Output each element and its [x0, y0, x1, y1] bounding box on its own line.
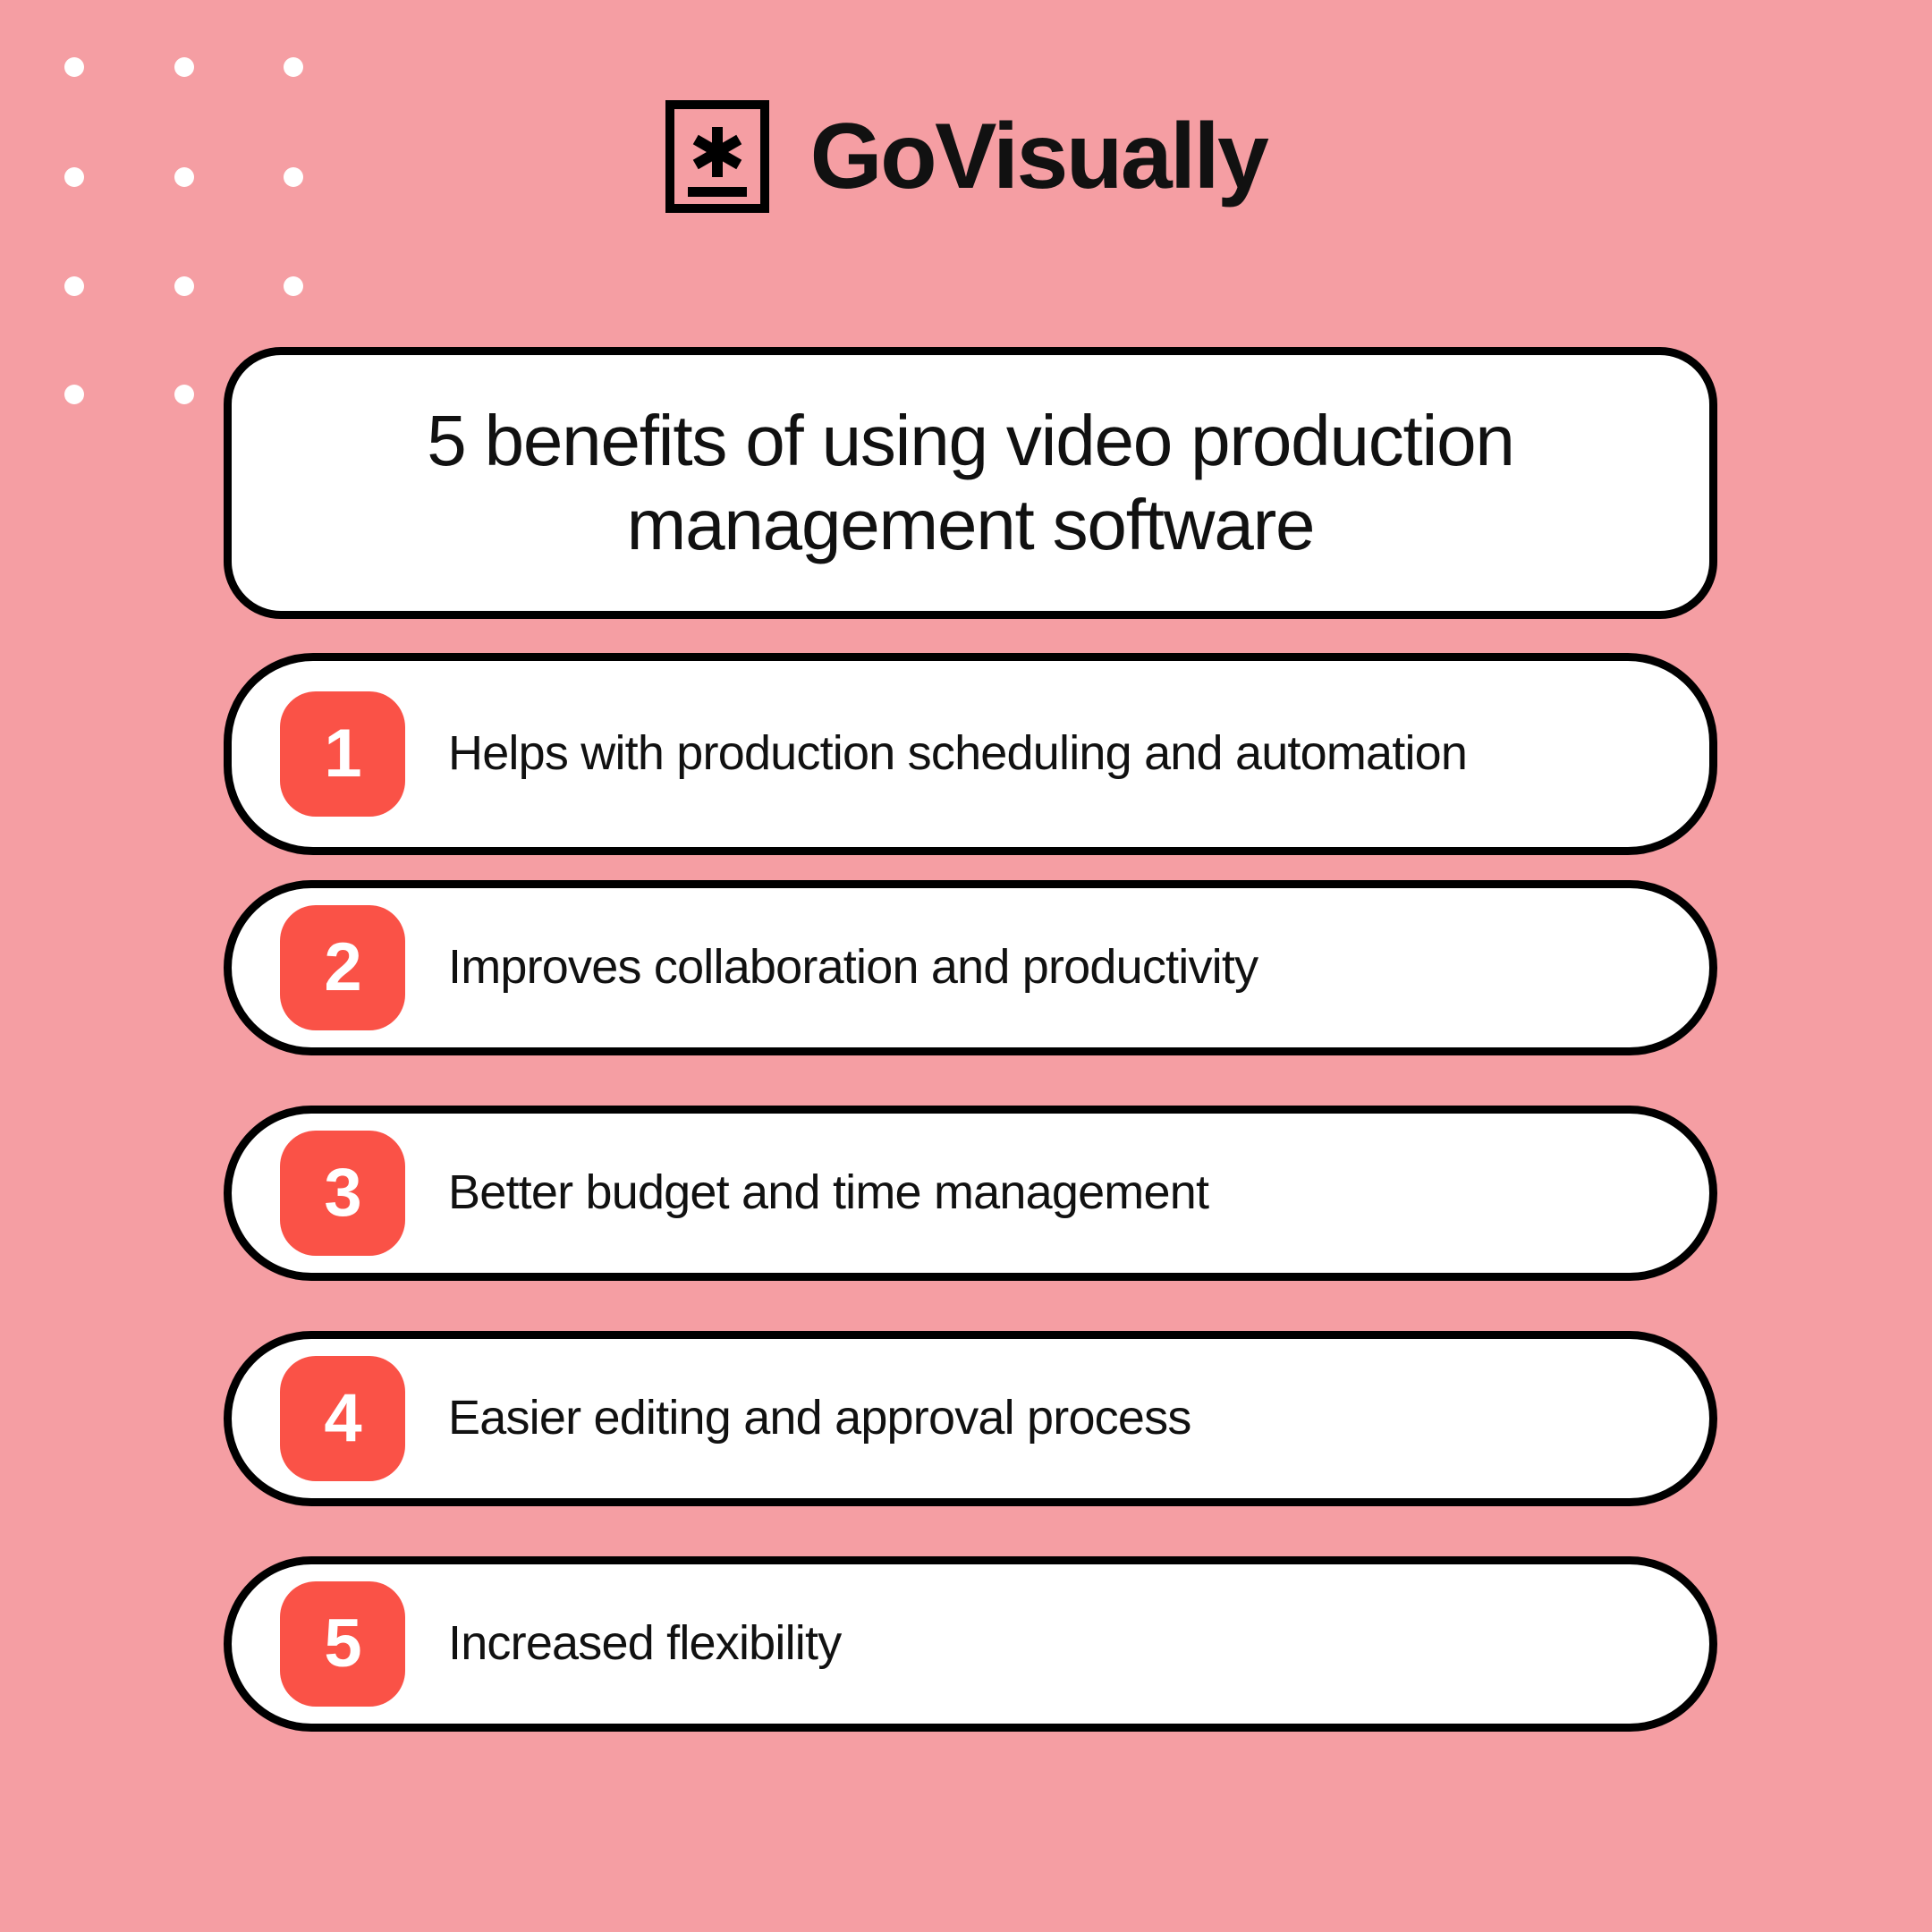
benefit-number: 5: [324, 1610, 360, 1678]
decorative-dot: [64, 276, 84, 296]
decorative-dot: [174, 276, 194, 296]
benefit-text: Easier editing and approval process: [448, 1387, 1263, 1449]
page-title: 5 benefits of using video production man…: [294, 399, 1647, 568]
benefit-card-1[interactable]: 1Helps with production scheduling and au…: [224, 653, 1717, 855]
benefit-text: Improves collaboration and productivity: [448, 936, 1329, 998]
benefit-card-4[interactable]: 4Easier editing and approval process: [224, 1331, 1717, 1506]
decorative-dot: [174, 57, 194, 77]
benefit-card-3[interactable]: 3Better budget and time management: [224, 1106, 1717, 1281]
benefit-number-badge: 3: [280, 1131, 405, 1256]
benefit-number-badge: 1: [280, 691, 405, 817]
benefit-text: Better budget and time management: [448, 1162, 1280, 1224]
benefit-number: 1: [324, 720, 360, 788]
decorative-dot: [174, 385, 194, 404]
brand-name: GoVisually: [810, 110, 1267, 203]
infographic-canvas: GoVisually 5 benefits of using video pro…: [0, 0, 1932, 1932]
decorative-dot: [64, 57, 84, 77]
benefit-number-badge: 2: [280, 905, 405, 1030]
benefit-card-2[interactable]: 2Improves collaboration and productivity: [224, 880, 1717, 1055]
asterisk-in-square-icon: [665, 100, 769, 213]
benefit-number: 3: [324, 1159, 360, 1227]
decorative-dot: [284, 57, 303, 77]
benefit-number: 2: [324, 934, 360, 1002]
benefit-number-badge: 4: [280, 1356, 405, 1481]
decorative-dot: [64, 385, 84, 404]
decorative-dot: [284, 276, 303, 296]
benefit-number: 4: [324, 1385, 360, 1453]
title-card: 5 benefits of using video production man…: [224, 347, 1717, 619]
brand-header: GoVisually: [0, 100, 1932, 213]
benefit-number-badge: 5: [280, 1581, 405, 1707]
benefit-text: Increased flexibility: [448, 1613, 912, 1674]
benefit-text: Helps with production scheduling and aut…: [448, 723, 1538, 784]
benefit-card-5[interactable]: 5Increased flexibility: [224, 1556, 1717, 1732]
